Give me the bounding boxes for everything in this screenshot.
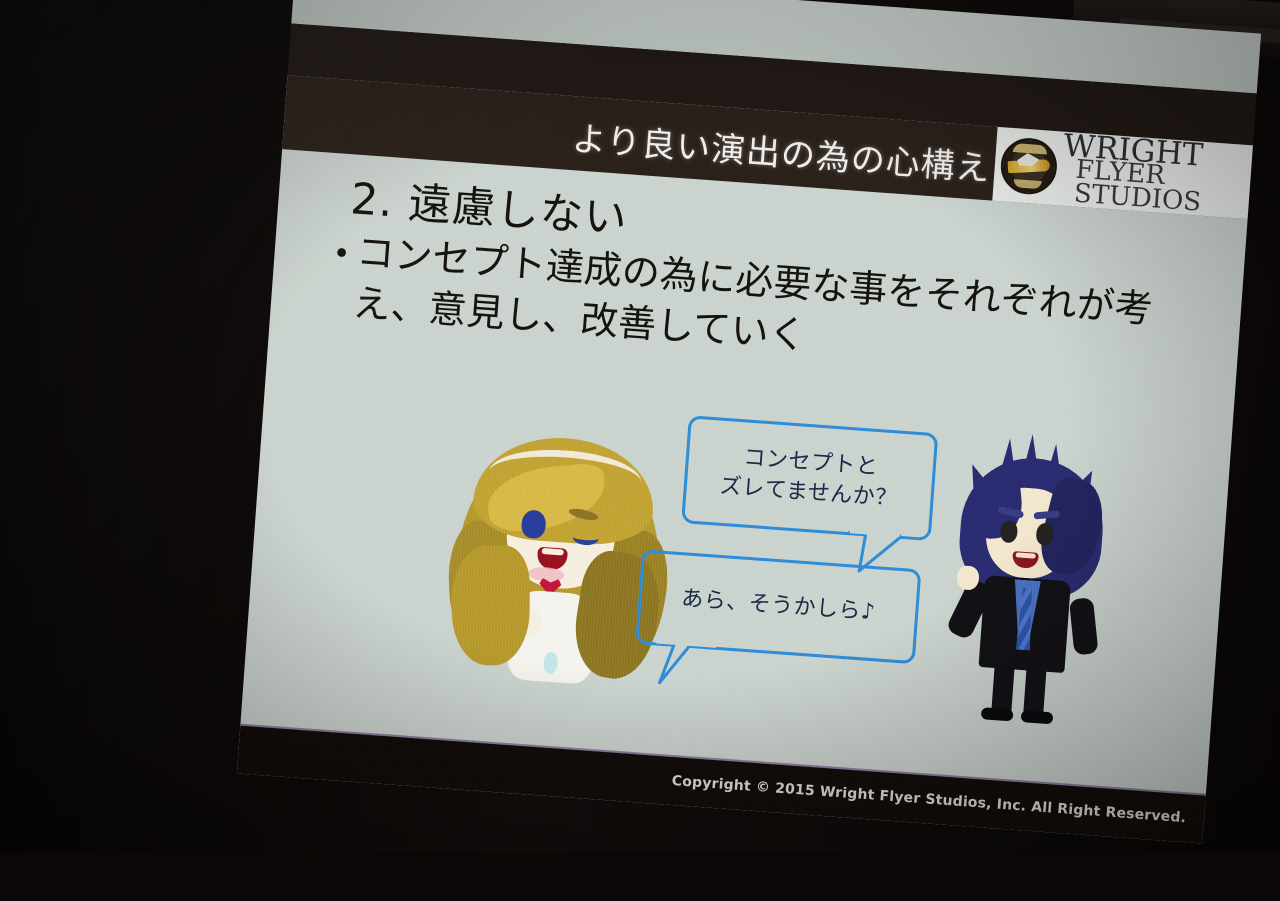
speech-bubble-girl-text: あら、そうかしら♪ <box>680 585 876 628</box>
man-shoe-right <box>1021 710 1054 724</box>
bullet-marker: • <box>332 239 352 270</box>
speech-bubble-girl-tail <box>653 640 716 690</box>
slide-title: より良い演出の為の心構え <box>571 111 993 190</box>
man-shoe-left <box>981 707 1014 721</box>
speech-bubble-man-text: コンセプトと ズレてませんか？ <box>719 442 901 514</box>
character-blue-haired-man <box>943 443 1113 728</box>
bullet-list-item: • コンセプト達成の為に必要な事をそれぞれが考え、意見し、改善していく <box>327 225 1222 390</box>
emblem-top-arc <box>1013 143 1048 154</box>
emblem-bottom-arc <box>1013 179 1042 189</box>
bullet-text: コンセプト達成の為に必要な事をそれぞれが考え、意見し、改善していく <box>351 227 1196 389</box>
slide-footer: Copyright © 2015 Wright Flyer Studios, I… <box>237 726 1206 844</box>
speech-bubble-girl: あら、そうかしら♪ <box>635 549 921 664</box>
biplane-emblem-icon <box>999 136 1059 196</box>
copyright-text: Copyright © 2015 Wright Flyer Studios, I… <box>671 773 1186 826</box>
projection-screen: より良い演出の為の心構え WRIGHT FLYER STUDIOS 2. 遠慮し… <box>191 0 1263 901</box>
man-lowered-arm <box>1069 597 1099 655</box>
presentation-slide: より良い演出の為の心構え WRIGHT FLYER STUDIOS 2. 遠慮し… <box>237 75 1253 843</box>
speech-bubble-man-line1: コンセプトと <box>743 446 879 481</box>
girl-hair-front-left <box>452 545 530 665</box>
character-blonde-girl <box>444 409 673 693</box>
logo-wordmark: WRIGHT FLYER STUDIOS <box>1059 132 1253 219</box>
left-wall-shadow <box>0 0 96 853</box>
speech-bubble-man: コンセプトと ズレてませんか？ <box>681 415 938 541</box>
